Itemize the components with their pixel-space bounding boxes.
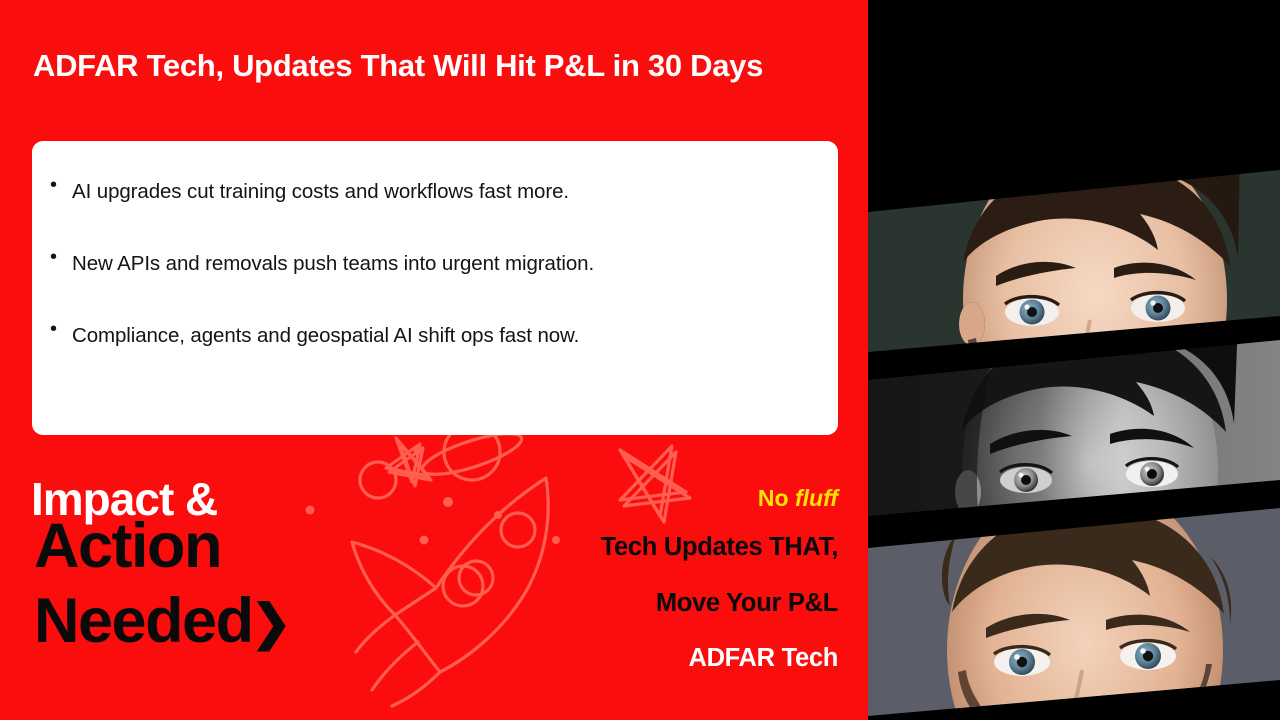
page-title: ADFAR Tech, Updates That Will Hit P&L in… [33, 48, 1043, 84]
list-item: • Compliance, agents and geospatial AI s… [50, 319, 812, 352]
tagline-line-2: Move Your P&L [442, 591, 838, 617]
list-item: • New APIs and removals push teams into … [50, 247, 812, 280]
slide-canvas: ADFAR Tech, Updates That Will Hit P&L in… [0, 0, 1280, 720]
brand-name: ADFAR Tech [442, 646, 838, 672]
bullet-marker-icon: • [50, 319, 72, 339]
impact-action-headline: Impact & Action Needed❯ [31, 476, 290, 653]
chevron-right-icon: ❯ [251, 596, 291, 650]
list-item-label: AI upgrades cut training costs and workf… [72, 175, 807, 208]
bullet-marker-icon: • [50, 247, 72, 267]
no-fluff-plain: No [758, 485, 789, 511]
no-fluff-italic: fluff [795, 485, 838, 511]
list-item-label: New APIs and removals push teams into ur… [72, 247, 807, 280]
list-item-label: Compliance, agents and geospatial AI shi… [72, 319, 807, 352]
needed-label: Needed [34, 586, 253, 656]
tagline-line-1: Tech Updates THAT, [442, 535, 838, 561]
bullet-marker-icon: • [50, 175, 72, 195]
no-fluff-badge: No fluff [442, 487, 838, 510]
key-points-card: • AI upgrades cut training costs and wor… [32, 141, 838, 435]
bullet-list: • AI upgrades cut training costs and wor… [50, 175, 812, 353]
list-item: • AI upgrades cut training costs and wor… [50, 175, 812, 208]
needed-line: Needed❯ [34, 590, 290, 653]
tagline-block: No fluff Tech Updates THAT, Move Your P&… [442, 487, 838, 672]
action-line: Action [34, 516, 290, 578]
